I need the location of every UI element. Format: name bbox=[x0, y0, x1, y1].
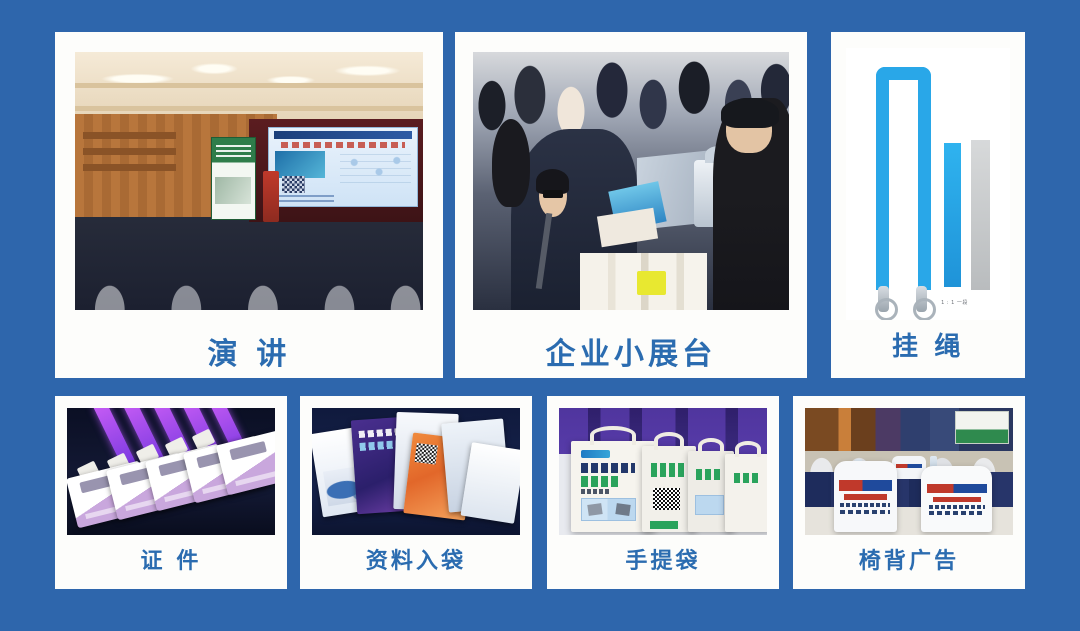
bag-strap bbox=[536, 213, 553, 289]
brochure-sheet bbox=[460, 442, 520, 523]
lanyard-swatch-blue bbox=[944, 143, 960, 287]
badge-credentials-photo bbox=[67, 408, 275, 535]
bag-side-text bbox=[651, 463, 685, 477]
brochure-kit-photo bbox=[312, 408, 520, 535]
exhibitor-person bbox=[713, 98, 789, 310]
card-kit[interactable]: 资料入袋 bbox=[300, 396, 532, 589]
chair-description-text bbox=[840, 503, 890, 507]
card-label-lanyard: 挂 绳 bbox=[892, 334, 964, 360]
lanyard-clip-right bbox=[916, 286, 927, 312]
card-lanyard[interactable]: 1 : 1 一段 挂 绳 bbox=[831, 32, 1025, 378]
slide-title-bar bbox=[274, 131, 413, 139]
bag-handle bbox=[654, 432, 684, 449]
yellow-tape bbox=[637, 271, 665, 294]
chair-contact-text bbox=[840, 510, 890, 514]
bag-side-text bbox=[734, 473, 760, 483]
lanyard-loop bbox=[876, 67, 932, 290]
chair-description-text bbox=[929, 505, 986, 509]
qr-code-icon bbox=[653, 488, 680, 510]
chair-tagline-text bbox=[933, 497, 981, 502]
bag-product-images bbox=[581, 498, 636, 522]
glasses-icon bbox=[543, 190, 563, 198]
chair-back-cover bbox=[921, 466, 992, 532]
audience-chairs bbox=[75, 253, 423, 310]
chair-tagline-text bbox=[844, 494, 886, 500]
badge-card bbox=[216, 428, 275, 495]
chair-contact-text bbox=[929, 511, 986, 515]
card-tote[interactable]: 手提袋 bbox=[547, 396, 779, 589]
slide-image-large bbox=[275, 151, 325, 178]
chair-brand-text bbox=[839, 480, 891, 491]
bag-date-badge bbox=[650, 521, 678, 529]
card-label-badge: 证 件 bbox=[141, 551, 202, 573]
bag-product-images bbox=[695, 495, 723, 515]
card-booth[interactable]: 企业小展台 bbox=[455, 32, 807, 378]
lanyard-product-photo: 1 : 1 一段 bbox=[846, 48, 1010, 320]
card-speech[interactable]: 演 讲 bbox=[55, 32, 443, 378]
card-label-booth: 企业小展台 bbox=[546, 340, 717, 370]
chair-back-advertising-photo bbox=[805, 408, 1013, 535]
bag-handle bbox=[590, 426, 637, 444]
bag-side-text bbox=[696, 469, 722, 480]
ceiling-beam bbox=[75, 106, 423, 111]
chair-back-cover bbox=[834, 461, 896, 532]
bag-handle bbox=[698, 438, 724, 454]
exhibition-booth-crowd-photo bbox=[473, 52, 789, 310]
bag-logo bbox=[581, 450, 609, 458]
bag-heading-text bbox=[581, 463, 634, 473]
ceiling-beam bbox=[75, 83, 423, 88]
bag-english-text bbox=[581, 489, 609, 494]
tote-bag bbox=[725, 454, 767, 533]
card-label-kit: 资料入袋 bbox=[366, 551, 466, 573]
poster-board: 演 讲 企业小展台 bbox=[0, 0, 1080, 631]
attendee-ponytail bbox=[492, 119, 530, 207]
bag-subheading-text bbox=[581, 476, 619, 487]
lanyard-caption: 1 : 1 一段 bbox=[941, 299, 968, 306]
card-chair[interactable]: 椅背广告 bbox=[793, 396, 1025, 589]
slide-subtitle bbox=[281, 142, 405, 148]
chair-brand-text bbox=[927, 484, 986, 494]
conference-hall-speech-photo bbox=[75, 52, 423, 310]
bag-handle bbox=[735, 441, 761, 457]
lanyard-clip-left bbox=[878, 286, 889, 312]
card-label-chair: 椅背广告 bbox=[859, 551, 959, 573]
card-badge[interactable]: 证 件 bbox=[55, 396, 287, 589]
card-label-tote: 手提袋 bbox=[625, 551, 700, 573]
lanyard-swatch-gray bbox=[971, 140, 991, 290]
card-label-speech: 演 讲 bbox=[207, 340, 290, 370]
green-banner-panel bbox=[955, 411, 1009, 444]
tote-bags-photo bbox=[559, 408, 767, 535]
